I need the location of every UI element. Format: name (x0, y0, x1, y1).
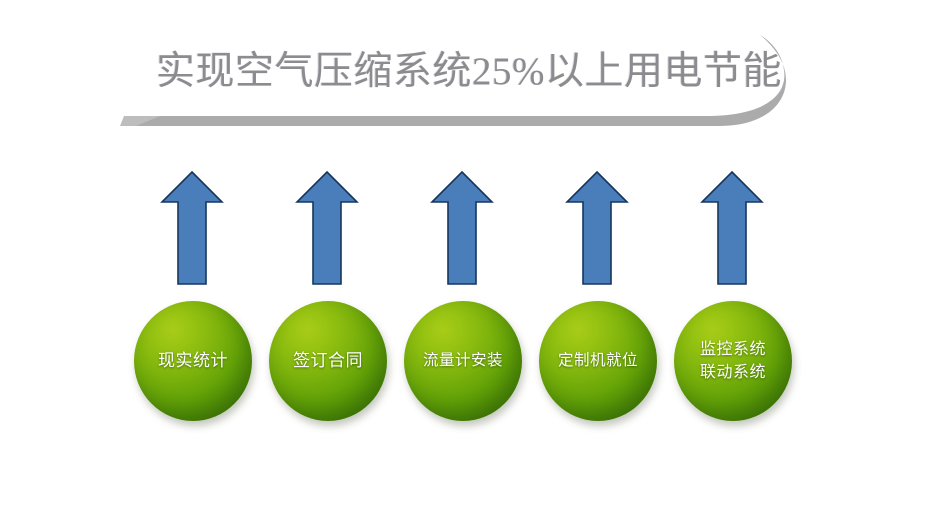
process-node-2[interactable]: 签订合同 (269, 301, 387, 421)
node-label-line: 联动系统 (700, 361, 766, 384)
up-arrow-icon-4 (565, 170, 629, 286)
process-node-1[interactable]: 现实统计 (134, 301, 252, 421)
node-label: 定制机就位 (539, 301, 657, 421)
title-banner: 实现空气压缩系统25%以上用电节能 (120, 30, 800, 130)
node-label: 现实统计 (134, 301, 252, 421)
node-label: 签订合同 (269, 301, 387, 421)
node-label-line: 流量计安装 (423, 350, 503, 372)
node-label-line: 签订合同 (293, 349, 363, 373)
process-node-3[interactable]: 流量计安装 (404, 301, 522, 421)
node-label-line: 监控系统 (700, 338, 766, 361)
node-label-line: 现实统计 (158, 349, 228, 373)
up-arrow-icon-2 (295, 170, 359, 286)
up-arrow-icon-3 (430, 170, 494, 286)
slide-canvas: 实现空气压缩系统25%以上用电节能 现实统计 签订合同 流量计安装 (0, 0, 945, 529)
node-label: 监控系统 联动系统 (674, 301, 792, 421)
up-arrow-icon-1 (160, 170, 224, 286)
process-node-4[interactable]: 定制机就位 (539, 301, 657, 421)
page-title: 实现空气压缩系统25%以上用电节能 (156, 42, 756, 102)
node-label-line: 定制机就位 (558, 350, 638, 372)
process-node-5[interactable]: 监控系统 联动系统 (674, 301, 792, 421)
node-label: 流量计安装 (404, 301, 522, 421)
up-arrow-icon-5 (700, 170, 764, 286)
